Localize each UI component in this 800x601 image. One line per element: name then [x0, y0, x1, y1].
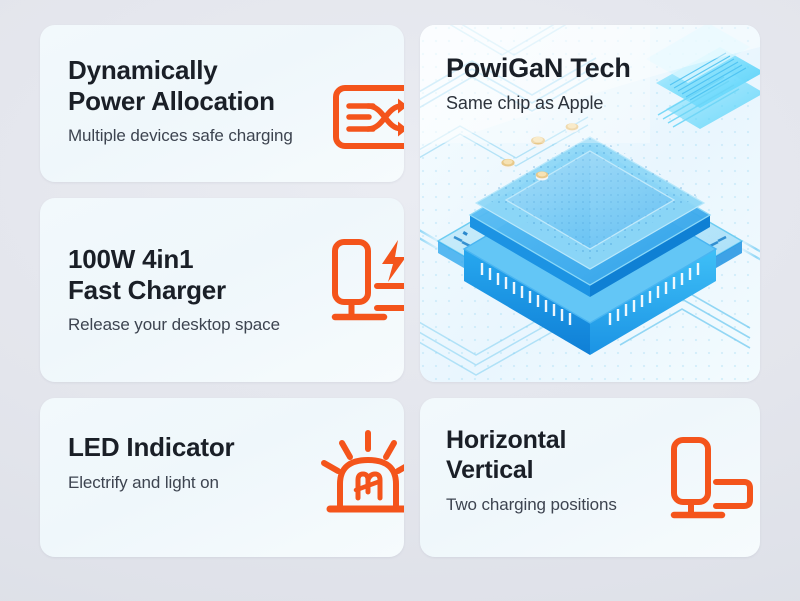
feature-card-power-allocation[interactable]: Dynamically Power Allocation Multiple de… — [40, 25, 404, 182]
card-content: LED Indicator Electrify and light on — [40, 398, 404, 557]
feature-grid: Dynamically Power Allocation Multiple de… — [0, 0, 800, 601]
card-title: LED Indicator — [68, 432, 234, 463]
card-subtitle: Same chip as Apple — [446, 92, 631, 115]
card-title: Dynamically Power Allocation — [68, 55, 293, 116]
card-subtitle: Multiple devices safe charging — [68, 125, 293, 146]
card-text-block: Dynamically Power Allocation Multiple de… — [68, 55, 293, 147]
card-title: 100W 4in1 Fast Charger — [68, 244, 280, 305]
card-title: PowiGaN Tech — [446, 53, 631, 85]
card-text-block: LED Indicator Electrify and light on — [68, 432, 234, 493]
fast-charge-stand-icon — [330, 236, 404, 328]
feature-card-powigan-tech[interactable]: PowiGaN Tech Same chip as Apple — [420, 25, 760, 382]
beacon-light-icon — [318, 430, 404, 522]
card-content: Dynamically Power Allocation Multiple de… — [40, 25, 404, 182]
card-subtitle: Electrify and light on — [68, 472, 234, 493]
device-stand-icon — [668, 430, 754, 522]
card-content: 100W 4in1 Fast Charger Release your desk… — [40, 198, 404, 382]
card-text-block: 100W 4in1 Fast Charger Release your desk… — [68, 244, 280, 336]
card-subtitle: Release your desktop space — [68, 314, 280, 335]
card-subtitle: Two charging positions — [446, 494, 617, 515]
card-content: Horizontal Vertical Two charging positio… — [420, 398, 760, 557]
feature-card-led-indicator[interactable]: LED Indicator Electrify and light on — [40, 398, 404, 557]
shuffle-power-icon — [332, 83, 404, 151]
card-text-block: PowiGaN Tech Same chip as Apple — [446, 53, 631, 114]
card-text-block: Horizontal Vertical Two charging positio… — [446, 426, 617, 515]
feature-card-fast-charger[interactable]: 100W 4in1 Fast Charger Release your desk… — [40, 198, 404, 382]
feature-card-charging-positions[interactable]: Horizontal Vertical Two charging positio… — [420, 398, 760, 557]
card-title: Horizontal Vertical — [446, 426, 617, 485]
